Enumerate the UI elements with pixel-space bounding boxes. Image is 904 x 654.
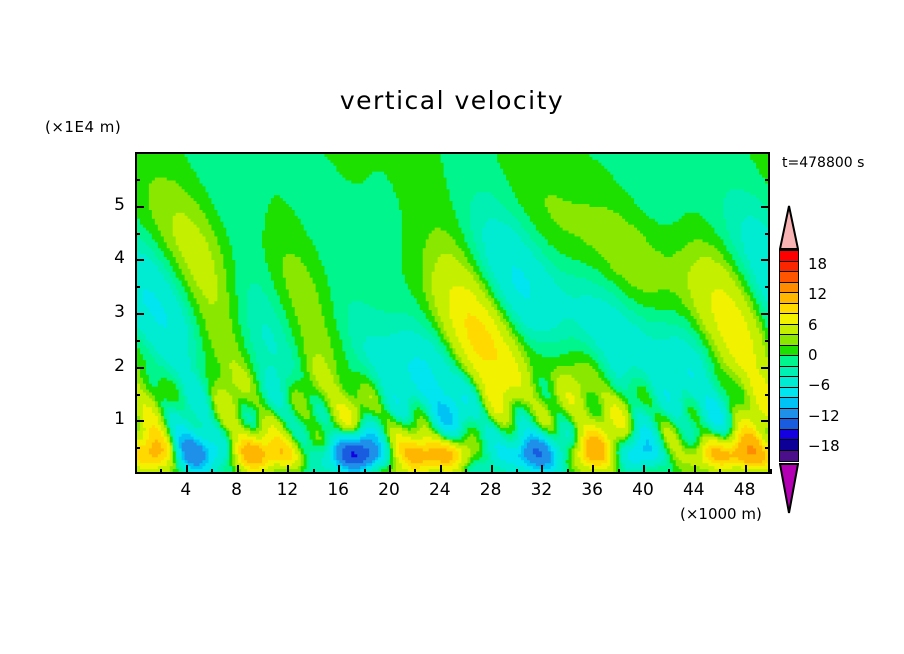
x-axis-tick-label: 24 — [420, 480, 460, 500]
colorbar-band — [780, 251, 798, 262]
x-axis-tick — [694, 465, 696, 474]
y-axis-minor-tick — [765, 179, 770, 181]
x-axis-tick-label: 36 — [572, 480, 612, 500]
y-axis-minor-tick — [135, 179, 140, 181]
x-axis-minor-tick — [160, 469, 162, 474]
colorbar-band — [780, 398, 798, 409]
y-axis-tick-label: 4 — [95, 248, 125, 268]
x-axis-minor-tick — [516, 469, 518, 474]
x-axis-tick — [287, 465, 289, 474]
x-axis-tick-label: 8 — [217, 480, 257, 500]
y-axis-minor-tick — [135, 447, 140, 449]
x-axis-minor-tick — [414, 469, 416, 474]
x-axis-tick — [643, 465, 645, 474]
y-axis-minor-tick — [135, 394, 140, 396]
colorbar-band — [780, 440, 798, 451]
y-axis-tick — [135, 367, 144, 369]
y-axis-tick-label: 1 — [95, 409, 125, 429]
x-axis-tick — [186, 465, 188, 474]
colorbar-band — [780, 304, 798, 315]
y-axis-tick-label: 5 — [95, 195, 125, 215]
colorbar-tick-label: −6 — [808, 376, 830, 394]
x-axis-minor-tick — [465, 469, 467, 474]
x-axis-minor-tick — [719, 469, 721, 474]
colorbar-band — [780, 430, 798, 441]
x-axis-minor-tick — [313, 469, 315, 474]
x-axis-tick-label: 12 — [267, 480, 307, 500]
y-axis-minor-tick — [135, 286, 140, 288]
x-axis-tick — [592, 465, 594, 474]
y-axis-tick — [135, 420, 144, 422]
colorbar-tick-label: −12 — [808, 407, 840, 425]
x-axis-tick — [389, 465, 391, 474]
colorbar-band — [780, 388, 798, 399]
x-axis-tick — [491, 465, 493, 474]
colorbar-band — [780, 314, 798, 325]
colorbar-band — [780, 283, 798, 294]
y-axis-minor-tick — [765, 340, 770, 342]
colorbar-under-arrow-icon — [779, 462, 799, 514]
x-axis-minor-tick — [770, 469, 772, 474]
colorbar-band — [780, 367, 798, 378]
colorbar-band — [780, 335, 798, 346]
x-axis-tick-label: 48 — [725, 480, 765, 500]
y-axis-minor-tick — [765, 233, 770, 235]
x-axis-tick-label: 32 — [521, 480, 561, 500]
timestamp-annotation: t=478800 s — [782, 155, 864, 171]
vertical-velocity-field — [137, 154, 768, 472]
x-axis-tick-label: 40 — [623, 480, 663, 500]
y-axis-tick — [135, 313, 144, 315]
y-axis-minor-tick — [765, 286, 770, 288]
page-title: vertical velocity — [0, 86, 904, 115]
contour-plot-area — [135, 152, 770, 474]
y-axis-tick — [761, 313, 770, 315]
y-axis-tick — [761, 420, 770, 422]
colorbar-band — [780, 419, 798, 430]
colorbar-band — [780, 409, 798, 420]
colorbar — [779, 250, 799, 462]
x-axis-tick-label: 4 — [166, 480, 206, 500]
colorbar-band — [780, 325, 798, 336]
y-axis-unit-label: (×1E4 m) — [45, 118, 121, 136]
x-axis-minor-tick — [211, 469, 213, 474]
colorbar-tick-label: 12 — [808, 285, 827, 303]
y-axis-tick-label: 2 — [95, 356, 125, 376]
y-axis-tick — [135, 259, 144, 261]
x-axis-minor-tick — [135, 469, 137, 474]
colorbar-tick-label: −18 — [808, 437, 840, 455]
colorbar-tick-label: 18 — [808, 255, 827, 273]
colorbar-tick-label: 6 — [808, 316, 818, 334]
colorbar-band — [780, 356, 798, 367]
x-axis-tick — [440, 465, 442, 474]
y-axis-tick-label: 3 — [95, 302, 125, 322]
x-axis-tick-label: 28 — [471, 480, 511, 500]
colorbar-band — [780, 346, 798, 357]
x-axis-tick-label: 20 — [369, 480, 409, 500]
x-axis-minor-tick — [567, 469, 569, 474]
x-axis-tick — [541, 465, 543, 474]
x-axis-tick-label: 16 — [318, 480, 358, 500]
x-axis-tick — [237, 465, 239, 474]
colorbar-over-arrow-icon — [779, 205, 799, 250]
y-axis-tick — [135, 206, 144, 208]
x-axis-minor-tick — [618, 469, 620, 474]
colorbar-band — [780, 293, 798, 304]
colorbar-band — [780, 272, 798, 283]
y-axis-minor-tick — [135, 233, 140, 235]
colorbar-band — [780, 262, 798, 273]
y-axis-tick — [761, 259, 770, 261]
colorbar-band — [780, 377, 798, 388]
y-axis-minor-tick — [765, 447, 770, 449]
colorbar-tick-label: 0 — [808, 346, 818, 364]
x-axis-unit-label: (×1000 m) — [680, 505, 762, 523]
x-axis-tick-label: 44 — [674, 480, 714, 500]
y-axis-minor-tick — [135, 340, 140, 342]
y-axis-tick — [761, 206, 770, 208]
x-axis-minor-tick — [668, 469, 670, 474]
x-axis-minor-tick — [364, 469, 366, 474]
y-axis-tick — [761, 367, 770, 369]
x-axis-tick — [745, 465, 747, 474]
x-axis-minor-tick — [262, 469, 264, 474]
colorbar-band — [780, 451, 798, 462]
x-axis-tick — [338, 465, 340, 474]
y-axis-minor-tick — [765, 394, 770, 396]
